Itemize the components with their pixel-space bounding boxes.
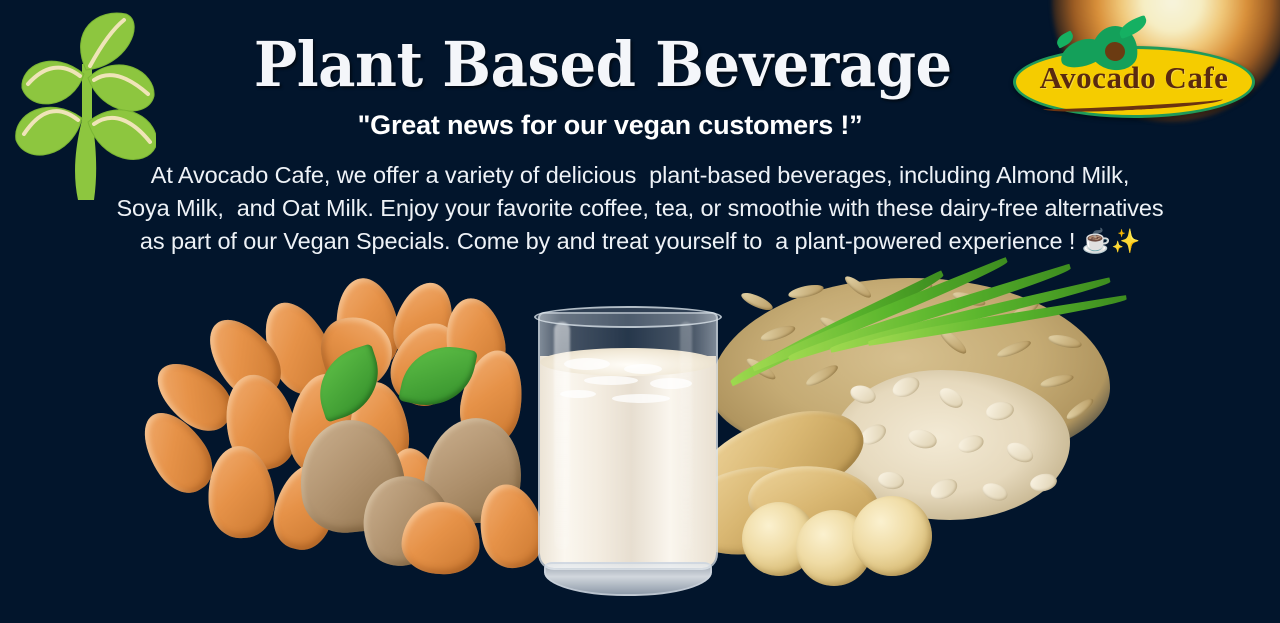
glass-base (544, 562, 712, 596)
milk-glass-image (530, 304, 726, 594)
oat-and-soy-image (700, 278, 1130, 578)
body-line-1: At Avocado Cafe, we offer a variety of d… (35, 159, 1245, 192)
body-line-2: Soya Milk, and Oat Milk. Enjoy your favo… (35, 192, 1245, 225)
plant-based-beverage-banner: Avocado Cafe Plant Based Beverage "Great… (0, 0, 1280, 623)
glass-highlight (680, 322, 692, 550)
soybean-shape (852, 496, 932, 576)
subtitle: "Great news for our vegan customers !” (0, 110, 1280, 141)
page-title: Plant Based Beverage (45, 34, 1235, 96)
body-copy: At Avocado Cafe, we offer a variety of d… (35, 159, 1245, 258)
glass-highlight (554, 322, 570, 550)
headline-block: Plant Based Beverage "Great news for our… (0, 0, 1280, 258)
glass-rim (534, 306, 722, 328)
product-imagery (0, 268, 1280, 623)
body-line-3: as part of our Vegan Specials. Come by a… (35, 225, 1245, 258)
almond-pile-image (150, 278, 570, 578)
